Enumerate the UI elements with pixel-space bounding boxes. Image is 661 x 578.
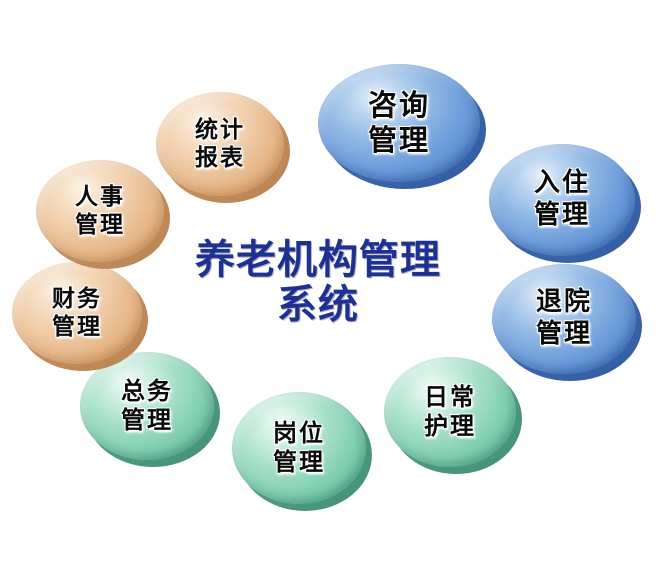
bubble-node-financial-management[interactable]: 财务管理 bbox=[12, 262, 142, 364]
bubble-node-statistical-reports[interactable]: 统计报表 bbox=[156, 92, 284, 196]
bubble-face bbox=[232, 392, 366, 504]
bubble-face bbox=[318, 64, 480, 182]
bubble-node-admission-management[interactable]: 入住管理 bbox=[489, 144, 635, 256]
bubble-node-position-management[interactable]: 岗位管理 bbox=[232, 392, 366, 504]
bubble-node-consultation-management[interactable]: 咨询管理 bbox=[318, 64, 480, 182]
bubble-node-daily-nursing-care[interactable]: 日常护理 bbox=[384, 357, 516, 467]
bubble-face bbox=[489, 144, 635, 256]
page-title-line-1: 养老机构管理 bbox=[168, 238, 468, 283]
bubble-face bbox=[36, 160, 164, 262]
page-title: 养老机构管理 系统 bbox=[168, 238, 468, 328]
bubble-face bbox=[384, 357, 516, 467]
page-title-line-2: 系统 bbox=[168, 283, 468, 328]
diagram-canvas: 咨询管理入住管理退院管理日常护理岗位管理总务管理财务管理人事管理统计报表 养老机… bbox=[0, 0, 661, 578]
bubble-face bbox=[156, 92, 284, 196]
bubble-face bbox=[12, 262, 142, 364]
bubble-node-human-resources-management[interactable]: 人事管理 bbox=[36, 160, 164, 262]
